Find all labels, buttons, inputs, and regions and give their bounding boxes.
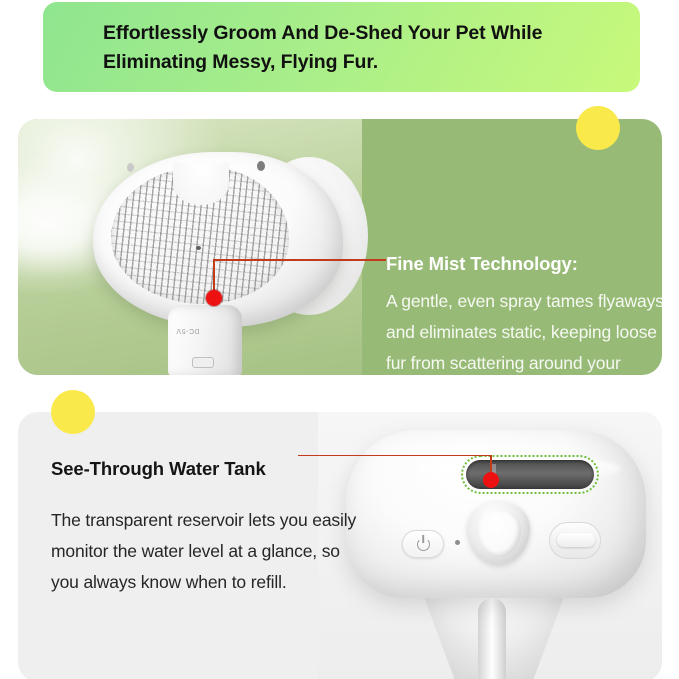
feature-text-block-fine-mist: Fine Mist Technology: A gentle, even spr… <box>386 252 662 375</box>
feature-text-block-water-tank: See-Through Water Tank The transparent r… <box>51 457 361 598</box>
decorative-yellow-dot-top <box>576 106 620 150</box>
vent-hole-left-icon <box>127 163 134 172</box>
product-photo-water-tank <box>318 412 662 679</box>
callout-line-connector-bottom <box>298 455 320 456</box>
water-tank-highlight-outline <box>461 455 599 494</box>
decorative-yellow-dot-bottom <box>51 390 95 434</box>
headline-text: Effortlessly Groom And De-Shed Your Pet … <box>103 19 618 77</box>
feature-card-fine-mist: DC-5V Fine Mist Technology: A gentle, ev… <box>18 119 662 375</box>
power-button[interactable] <box>402 530 444 558</box>
headline-banner: Effortlessly Groom And De-Shed Your Pet … <box>43 2 640 92</box>
device-neck-groove <box>478 598 506 679</box>
pad-speck <box>196 246 201 250</box>
usb-c-port-icon <box>192 357 214 368</box>
feature-title-water-tank: See-Through Water Tank <box>51 457 361 481</box>
feature-body-fine-mist: A gentle, even spray tames flyaways and … <box>386 286 662 375</box>
slider-knob[interactable] <box>557 533 595 547</box>
callout-dot-water-tank <box>483 472 499 488</box>
callout-line-horizontal-top <box>213 259 386 261</box>
vent-hole-right-icon <box>257 161 265 171</box>
indicator-led-icon <box>455 540 460 545</box>
power-icon <box>417 538 430 551</box>
pad-notch <box>173 163 229 205</box>
callout-line-vertical-top <box>213 260 215 293</box>
feature-body-water-tank: The transparent reservoir lets you easil… <box>51 505 361 598</box>
feature-card-water-tank: See-Through Water Tank The transparent r… <box>18 412 662 679</box>
product-photo-brush-head: DC-5V <box>18 119 362 375</box>
callout-dot-mist-nozzle <box>206 290 222 306</box>
feature-title-fine-mist: Fine Mist Technology: <box>386 252 662 276</box>
device-voltage-label: DC-5V <box>176 327 200 334</box>
page-root: Effortlessly Groom And De-Shed Your Pet … <box>0 0 679 679</box>
